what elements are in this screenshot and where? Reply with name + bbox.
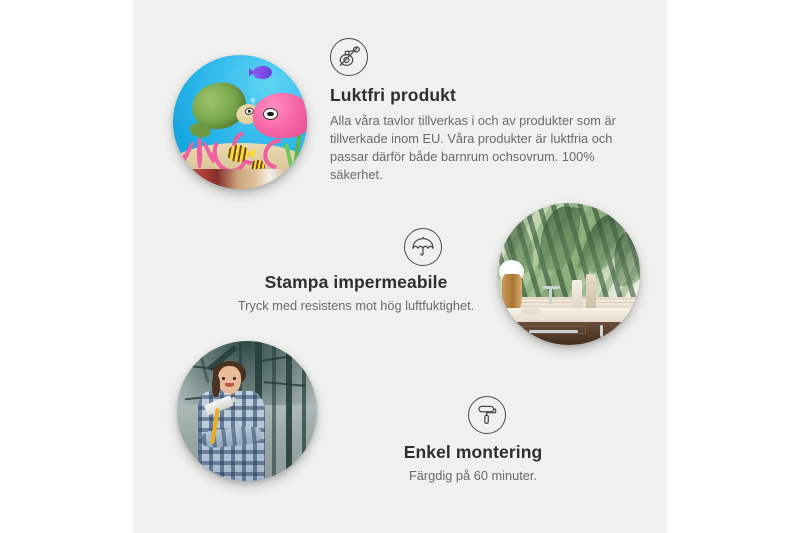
feature-waterproof-body: Tryck med resistens mot hög luftfuktighe… xyxy=(208,297,504,315)
sea-photo-inner xyxy=(173,55,307,189)
purple-fish-icon xyxy=(253,66,272,79)
feature-waterproof: Stampa impermeabile Tryck med resistens … xyxy=(208,228,504,315)
coral-icon xyxy=(180,130,220,168)
woman-eye xyxy=(222,377,225,379)
feature-easy-mounting-title: Enkel montering xyxy=(336,442,610,464)
door-handle-icon xyxy=(600,325,603,337)
soap-bottle-icon xyxy=(572,280,582,308)
vase-icon xyxy=(502,274,522,311)
sea-photo-bottom-strip xyxy=(173,169,307,189)
tree-trunk xyxy=(302,341,306,481)
feature-easy-mounting: Enkel montering Färgdig på 60 minuter. xyxy=(336,396,610,485)
no-odour-spray-bottle-icon xyxy=(330,38,368,76)
soap-dish-icon xyxy=(521,308,541,315)
octopus-icon xyxy=(253,93,307,139)
kids-underwater-scene-photo[interactable] xyxy=(173,55,307,189)
forest-photo-inner xyxy=(177,341,317,481)
faucet-icon xyxy=(549,288,552,304)
woman-eye xyxy=(233,377,236,379)
vanity-cabinet xyxy=(507,322,640,345)
feature-odourless-title: Luktfri produkt xyxy=(330,85,630,107)
painter-woman-forest-mural-photo[interactable] xyxy=(177,341,317,481)
paint-roller-icon xyxy=(468,396,506,434)
screenshot-root: Luktfri produkt Alla våra tavlor tillver… xyxy=(0,0,800,533)
feature-odourless-body: Alla våra tavlor tillverkas i och av pro… xyxy=(330,112,630,185)
bathroom-tropical-wallpaper-photo[interactable] xyxy=(498,203,640,345)
drawer-handle-icon xyxy=(529,330,577,333)
bubble-icon xyxy=(251,98,256,103)
tree-trunk xyxy=(286,341,292,481)
woman-hair-side xyxy=(212,375,220,397)
octopus-eye-icon xyxy=(263,108,278,120)
feature-panel: Luktfri produkt Alla våra tavlor tillver… xyxy=(133,0,667,533)
feature-odourless: Luktfri produkt Alla våra tavlor tillver… xyxy=(330,38,630,185)
tree-trunk xyxy=(272,341,276,481)
umbrella-icon xyxy=(404,228,442,266)
feature-easy-mounting-body: Färgdig på 60 minuter. xyxy=(336,467,610,485)
bathroom-photo-inner xyxy=(498,203,640,345)
feature-waterproof-title: Stampa impermeabile xyxy=(208,272,504,294)
soap-bottle-icon xyxy=(586,274,596,310)
